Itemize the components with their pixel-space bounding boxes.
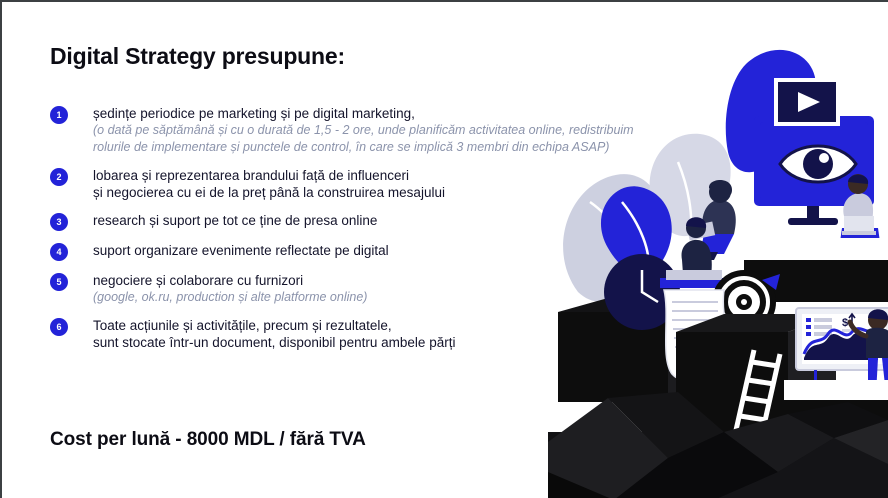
- list-item-line: și negocierea cu ei de la preț până la c…: [93, 184, 445, 201]
- list-item-number-badge: 4: [50, 243, 68, 261]
- list-item-body: Toate acțiunile și activitățile, precum …: [93, 317, 455, 351]
- list-item-subline: rolurile de implementare și punctele de …: [93, 139, 634, 156]
- list-item-number-badge: 6: [50, 318, 68, 336]
- list-item-line: Toate acțiunile și activitățile, precum …: [93, 317, 455, 334]
- svg-text:$: $: [842, 317, 848, 329]
- list-item-number-badge: 5: [50, 273, 68, 291]
- list-item: 1 ședințe periodice pe marketing și pe d…: [50, 105, 790, 156]
- list-item: 2 lobarea și reprezentarea brandului faț…: [50, 167, 790, 201]
- list-item: 3 research și suport pe tot ce ține de p…: [50, 212, 790, 231]
- list-item-number-badge: 2: [50, 168, 68, 186]
- list-item: 5 negociere și colaborare cu furnizori (…: [50, 272, 790, 306]
- numbered-list: 1 ședințe periodice pe marketing și pe d…: [50, 105, 790, 351]
- list-item-line: negociere și colaborare cu furnizori: [93, 272, 367, 289]
- list-item-body: negociere și colaborare cu furnizori (go…: [93, 272, 367, 306]
- slide: Digital Strategy presupune: 1 ședințe pe…: [0, 0, 888, 498]
- list-item: 6 Toate acțiunile și activitățile, precu…: [50, 317, 790, 351]
- list-item-body: ședințe periodice pe marketing și pe dig…: [93, 105, 634, 156]
- page-title: Digital Strategy presupune:: [50, 43, 345, 70]
- list-item-number-badge: 3: [50, 213, 68, 231]
- list-item-subline: (google, ok.ru, production și alte platf…: [93, 289, 367, 306]
- list-item-line: research și suport pe tot ce ține de pre…: [93, 212, 377, 229]
- list-item: 4 suport organizare evenimente reflectat…: [50, 242, 790, 261]
- list-item-subline: (o dată pe săptămână și cu o durată de 1…: [93, 122, 634, 139]
- list-item-body: lobarea și reprezentarea brandului față …: [93, 167, 445, 201]
- list-item-line: suport organizare evenimente reflectate …: [93, 242, 389, 259]
- list-item-body: research și suport pe tot ce ține de pre…: [93, 212, 377, 229]
- list-item-line: ședințe periodice pe marketing și pe dig…: [93, 105, 634, 122]
- list-item-line: lobarea și reprezentarea brandului față …: [93, 167, 445, 184]
- list-item-number-badge: 1: [50, 106, 68, 124]
- list-item-body: suport organizare evenimente reflectate …: [93, 242, 389, 259]
- cost-footer: Cost per lună - 8000 MDL / fără TVA: [50, 429, 366, 451]
- list-item-line: sunt stocate într-un document, disponibi…: [93, 334, 455, 351]
